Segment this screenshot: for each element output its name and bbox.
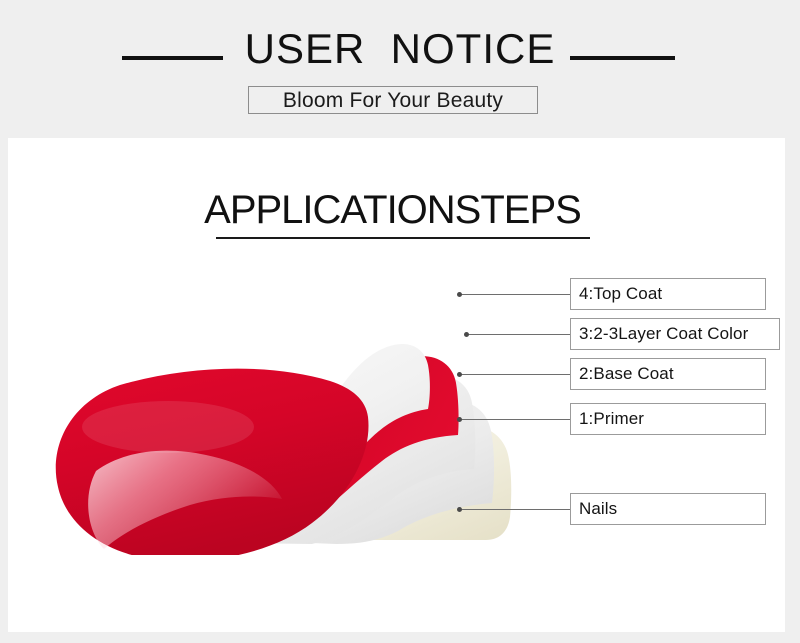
label-box-nails: Nails bbox=[570, 493, 766, 525]
label-text-top-coat: 4:Top Coat bbox=[579, 284, 662, 304]
polish-soft-sheen bbox=[82, 401, 254, 453]
label-text-color-coat: 3:2-3Layer Coat Color bbox=[579, 324, 748, 344]
label-box-color-coat: 3:2-3Layer Coat Color bbox=[570, 318, 780, 350]
label-box-primer: 1:Primer bbox=[570, 403, 766, 435]
leader-line-top-coat bbox=[459, 294, 570, 295]
page-root: USER NOTICE Bloom For Your Beauty APPLIC… bbox=[0, 0, 800, 643]
subtitle-box: Bloom For Your Beauty bbox=[248, 86, 538, 114]
nail-layer-diagram bbox=[0, 255, 580, 555]
section-heading: APPLICATIONSTEPS bbox=[0, 190, 785, 230]
callout-dot-color-coat bbox=[464, 332, 469, 337]
leader-line-nails bbox=[459, 509, 570, 510]
section-heading-underline bbox=[216, 237, 590, 239]
leader-line-primer bbox=[459, 419, 570, 420]
leader-line-color-coat bbox=[466, 334, 570, 335]
callout-dot-primer bbox=[457, 417, 462, 422]
page-title: USER NOTICE bbox=[0, 28, 800, 70]
label-text-primer: 1:Primer bbox=[579, 409, 644, 429]
leader-line-base-coat bbox=[459, 374, 570, 375]
label-text-base-coat: 2:Base Coat bbox=[579, 364, 674, 384]
label-text-nails: Nails bbox=[579, 499, 617, 519]
callout-dot-top-coat bbox=[457, 292, 462, 297]
callout-dot-nails bbox=[457, 507, 462, 512]
label-box-base-coat: 2:Base Coat bbox=[570, 358, 766, 390]
subtitle-text: Bloom For Your Beauty bbox=[283, 90, 503, 111]
header-band: USER NOTICE Bloom For Your Beauty bbox=[0, 0, 800, 138]
callout-dot-base-coat bbox=[457, 372, 462, 377]
label-box-top-coat: 4:Top Coat bbox=[570, 278, 766, 310]
